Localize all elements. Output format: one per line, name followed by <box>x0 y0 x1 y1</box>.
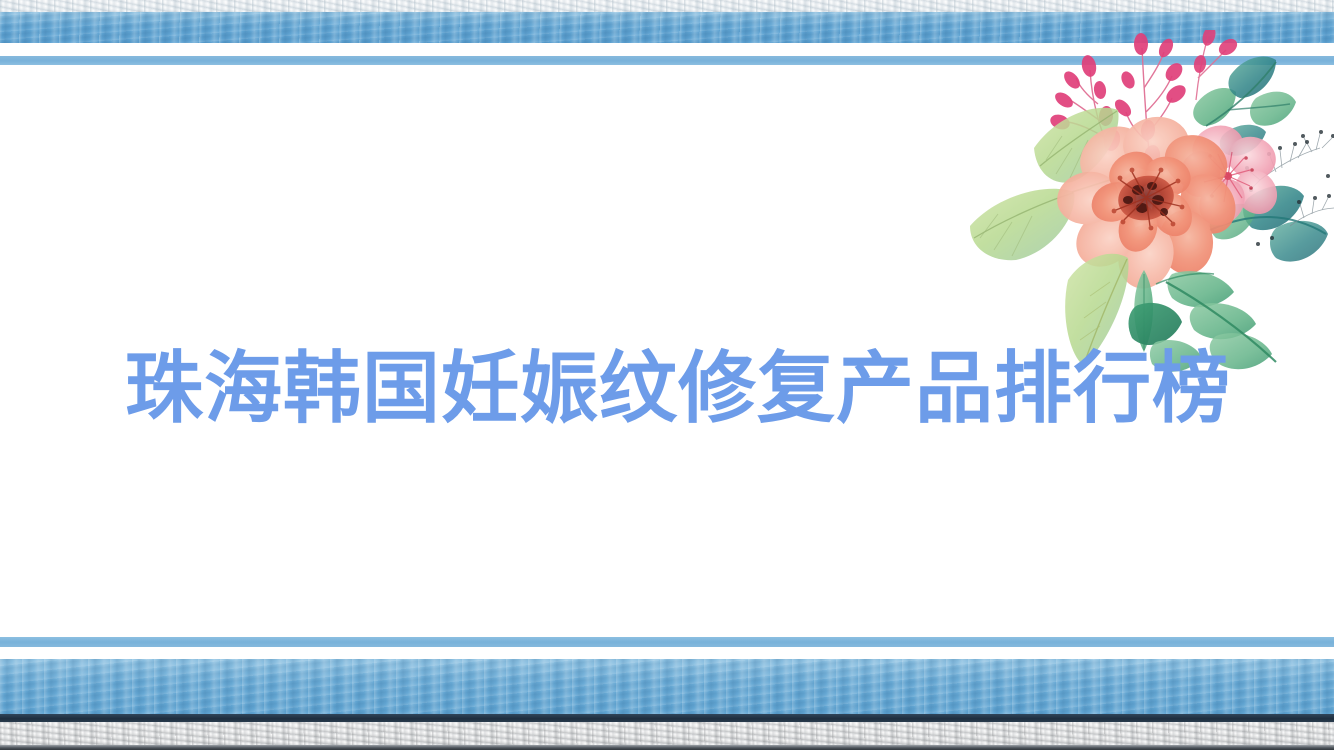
top-blue-thin-line <box>0 56 1334 65</box>
leaf-spray-center <box>1134 270 1153 352</box>
berry-cluster-left <box>1048 54 1122 153</box>
babys-breath-sprigs <box>1248 134 1334 226</box>
berry-sprig-right <box>1196 36 1226 100</box>
bottom-blue-thin-line <box>0 637 1334 647</box>
bottom-edge-line <box>0 745 1334 750</box>
floral-decoration <box>960 30 1334 375</box>
leaf-group-upper-right <box>1193 57 1296 156</box>
bottom-dark-divider <box>0 714 1334 722</box>
leaf-spray-dark <box>1129 303 1182 345</box>
page-title-text: 珠海韩国妊娠纹修复产品排行榜 <box>125 350 1231 428</box>
page-title: 珠海韩国妊娠纹修复产品排行榜 <box>125 343 1225 435</box>
main-flower <box>1052 113 1246 296</box>
top-blue-band <box>0 12 1334 43</box>
berry-cluster-center <box>1112 33 1189 168</box>
slide-canvas: 珠海韩国妊娠纹修复产品排行榜 <box>0 0 1334 750</box>
leaf-pale-lower <box>970 180 1110 260</box>
bottom-blue-band <box>0 659 1334 716</box>
leaf-group-right-teal <box>1210 186 1328 262</box>
babys-breath-dots <box>1245 130 1334 246</box>
leaf-pale-upper <box>1034 108 1119 183</box>
cherry-blossom <box>1176 118 1285 234</box>
berry-sprig-left <box>1068 70 1110 150</box>
bottom-paper-texture-strip <box>0 721 1334 746</box>
